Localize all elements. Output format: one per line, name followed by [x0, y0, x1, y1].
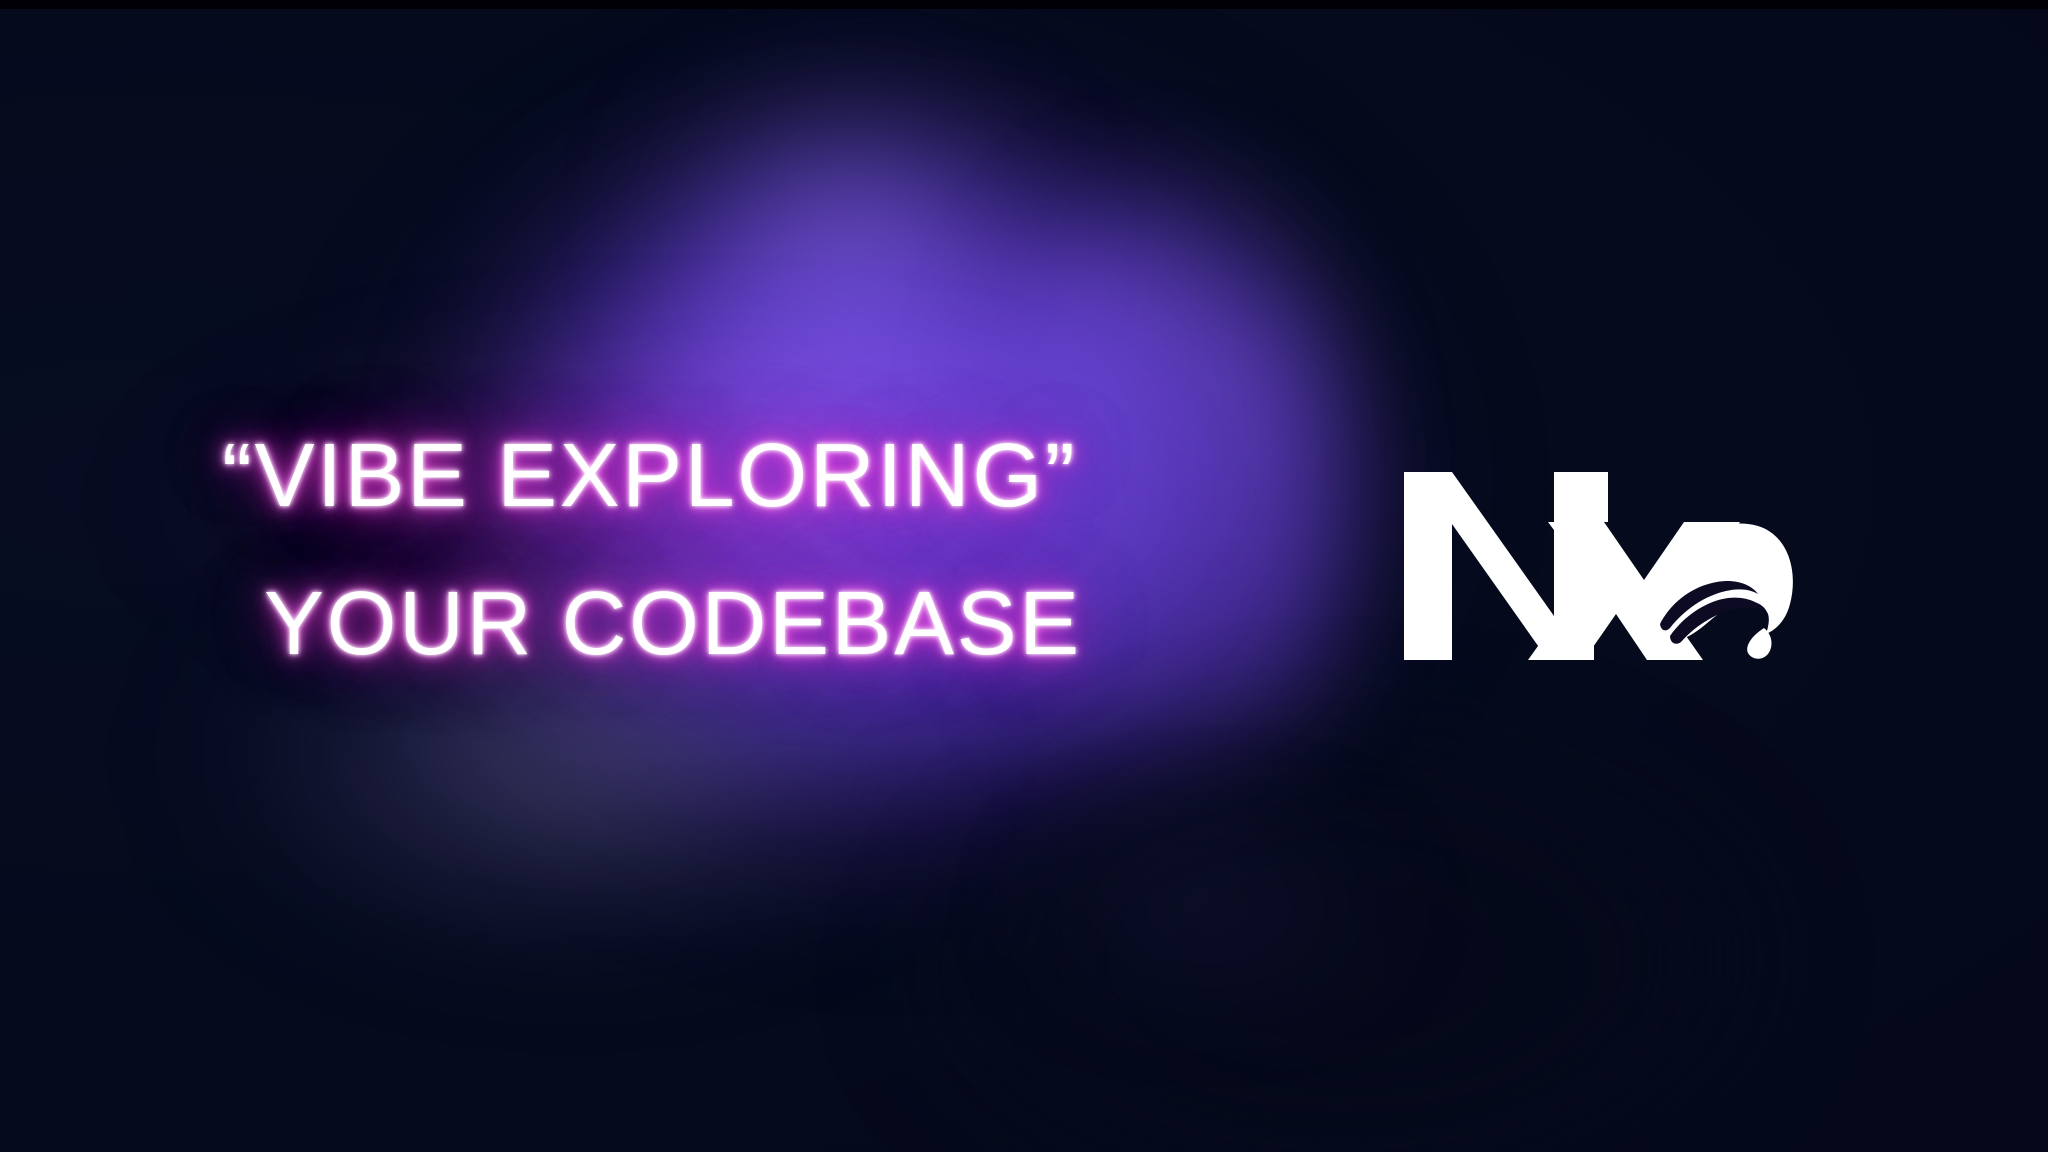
headline-line-2: YOUR CODEBASE — [222, 550, 1282, 698]
letter-i-dot — [1554, 472, 1608, 522]
headline-line-1: “VIBE EXPLORING” — [222, 402, 1282, 550]
nx-wave-droplet — [1747, 628, 1771, 659]
top-black-bar — [0, 0, 2048, 9]
nx-logo-svg: Nx — [1398, 428, 1798, 700]
nx-logo: Nx — [1398, 428, 1798, 700]
slide-canvas: “VIBE EXPLORING” YOUR CODEBASE Nx — [0, 0, 2048, 1152]
nx-logo-marks — [1404, 472, 1793, 660]
headline-block: “VIBE EXPLORING” YOUR CODEBASE — [222, 402, 1282, 698]
purple-blob-tail — [1000, 840, 1420, 1152]
